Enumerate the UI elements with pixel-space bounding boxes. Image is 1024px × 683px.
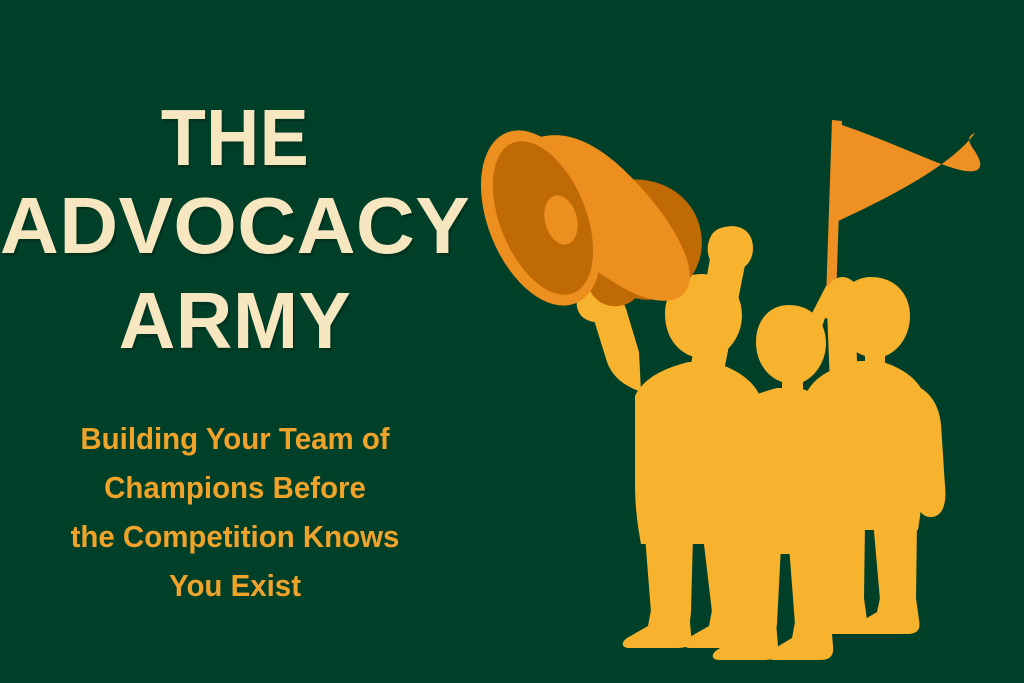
subheadline-line-1: Building Your Team of — [12, 423, 459, 454]
subheadline-line-4: You Exist — [12, 570, 459, 601]
headline-line-2: ADVOCACY — [0, 192, 475, 261]
flag-icon — [826, 120, 980, 300]
subheadline-line-2: Champions Before — [12, 472, 459, 503]
text-block: THE ADVOCACY ARMY Building Your Team of … — [0, 0, 470, 683]
subheadline-line-3: the Competition Knows — [12, 521, 459, 552]
headline-line-3: ARMY — [5, 287, 466, 356]
megaphone-icon — [457, 113, 701, 323]
headline-line-1: THE — [19, 104, 451, 173]
poster-canvas: THE ADVOCACY ARMY Building Your Team of … — [0, 0, 1024, 683]
illustration — [455, 0, 1024, 683]
